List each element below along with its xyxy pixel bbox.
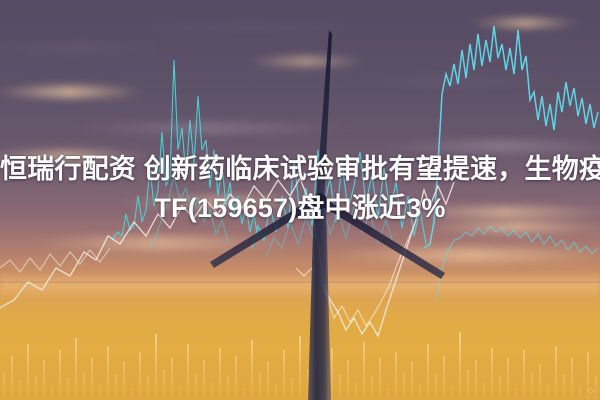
news-banner: 恒瑞行配资 创新药临床试验审批有望提速，生物疫苗ETF TF(159657)盘中… — [0, 0, 600, 400]
headline-text: 恒瑞行配资 创新药临床试验审批有望提速，生物疫苗ETF TF(159657)盘中… — [0, 152, 600, 226]
headline-line-2: TF(159657)盘中涨近3% — [0, 191, 600, 226]
watermark-glyph: ◇ — [588, 386, 594, 395]
turbine-tower — [308, 196, 331, 400]
headline-line-1: 恒瑞行配资 创新药临床试验审批有望提速，生物疫苗ETF — [0, 152, 600, 187]
